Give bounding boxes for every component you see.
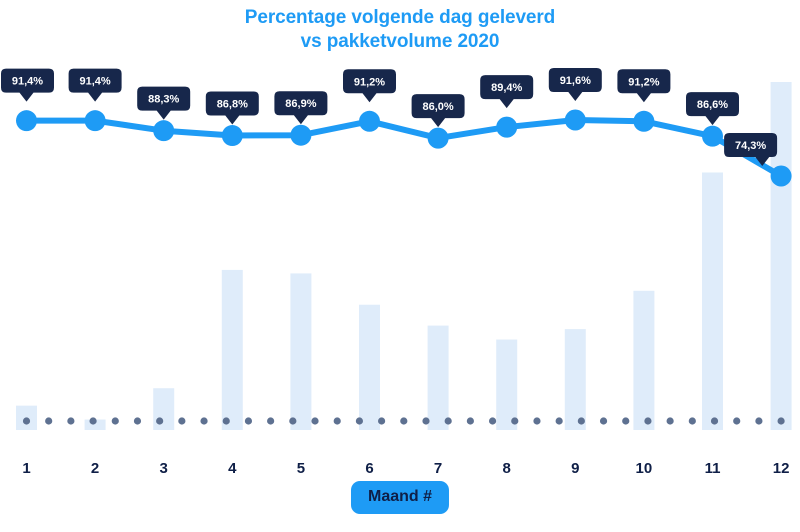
data-point-month-1[interactable] bbox=[16, 110, 37, 131]
bar-month-11 bbox=[702, 172, 723, 430]
data-label-callouts-layer: 91,4%91,4%88,3%86,8%86,9%91,2%86,0%89,4%… bbox=[1, 68, 777, 166]
data-point-month-7[interactable] bbox=[428, 128, 449, 149]
axis-dot bbox=[45, 417, 52, 424]
x-tick-label-7: 7 bbox=[434, 460, 442, 477]
callout-value-label: 91,6% bbox=[560, 75, 591, 87]
axis-dot bbox=[156, 417, 163, 424]
axis-dot bbox=[511, 417, 518, 424]
gridline-dot-row bbox=[23, 417, 785, 424]
line-markers-layer bbox=[16, 110, 792, 187]
data-point-month-5[interactable] bbox=[290, 125, 311, 146]
bar-month-4 bbox=[222, 270, 243, 430]
axis-dot bbox=[755, 417, 762, 424]
data-point-month-12[interactable] bbox=[771, 166, 792, 187]
x-tick-label-3: 3 bbox=[160, 460, 168, 477]
data-point-month-10[interactable] bbox=[633, 111, 654, 132]
data-label-callout-month-6: 91,2% bbox=[343, 69, 396, 102]
x-tick-label-8: 8 bbox=[503, 460, 511, 477]
axis-dot bbox=[445, 417, 452, 424]
bar-month-3 bbox=[153, 388, 174, 430]
data-label-callout-month-10: 91,2% bbox=[617, 69, 670, 102]
line-series-layer bbox=[27, 120, 782, 176]
callout-value-label: 74,3% bbox=[735, 140, 766, 152]
axis-dot bbox=[556, 417, 563, 424]
x-axis-tick-labels: 123456789101112 bbox=[22, 460, 789, 477]
axis-dot bbox=[711, 417, 718, 424]
axis-dot bbox=[467, 417, 474, 424]
axis-dot bbox=[289, 417, 296, 424]
data-label-callout-month-4: 86,8% bbox=[206, 92, 259, 125]
bar-month-5 bbox=[290, 273, 311, 430]
axis-dot bbox=[200, 417, 207, 424]
axis-dot bbox=[267, 417, 274, 424]
axis-dot bbox=[89, 417, 96, 424]
data-point-month-6[interactable] bbox=[359, 111, 380, 132]
callout-value-label: 86,6% bbox=[697, 99, 728, 111]
data-point-month-11[interactable] bbox=[702, 126, 723, 147]
axis-dot bbox=[356, 417, 363, 424]
callout-value-label: 91,4% bbox=[79, 76, 110, 88]
axis-dot bbox=[334, 417, 341, 424]
axis-dot bbox=[422, 417, 429, 424]
x-tick-label-6: 6 bbox=[365, 460, 373, 477]
axis-dot bbox=[489, 417, 496, 424]
data-point-month-2[interactable] bbox=[85, 110, 106, 131]
axis-dot bbox=[178, 417, 185, 424]
x-tick-label-1: 1 bbox=[22, 460, 30, 477]
data-point-month-3[interactable] bbox=[153, 120, 174, 141]
callout-value-label: 91,2% bbox=[628, 76, 659, 88]
axis-dot bbox=[689, 417, 696, 424]
data-label-callout-month-5: 86,9% bbox=[274, 91, 327, 124]
data-label-callout-month-11: 86,6% bbox=[686, 92, 739, 125]
x-tick-label-4: 4 bbox=[228, 460, 237, 477]
data-label-callout-month-7: 86,0% bbox=[412, 94, 465, 127]
axis-dot bbox=[533, 417, 540, 424]
axis-dot bbox=[23, 417, 30, 424]
callout-value-label: 91,4% bbox=[12, 76, 43, 88]
axis-dot bbox=[778, 417, 785, 424]
axis-dot bbox=[245, 417, 252, 424]
callout-value-label: 89,4% bbox=[491, 82, 522, 94]
data-label-callout-month-2: 91,4% bbox=[69, 69, 122, 102]
chart-plot-area: 91,4%91,4%88,3%86,8%86,9%91,2%86,0%89,4%… bbox=[0, 0, 800, 500]
axis-dot bbox=[378, 417, 385, 424]
bar-month-10 bbox=[633, 291, 654, 430]
axis-dot bbox=[578, 417, 585, 424]
x-tick-label-11: 11 bbox=[705, 460, 721, 477]
callout-value-label: 91,2% bbox=[354, 76, 385, 88]
axis-dot bbox=[600, 417, 607, 424]
data-point-month-9[interactable] bbox=[565, 110, 586, 131]
bar-month-7 bbox=[428, 326, 449, 430]
data-point-month-8[interactable] bbox=[496, 117, 517, 138]
data-label-callout-month-3: 88,3% bbox=[137, 87, 190, 120]
data-point-month-4[interactable] bbox=[222, 125, 243, 146]
callout-value-label: 88,3% bbox=[148, 94, 179, 106]
chart-container: Percentage volgende dag geleverd vs pakk… bbox=[0, 0, 800, 532]
axis-dot bbox=[644, 417, 651, 424]
x-tick-label-9: 9 bbox=[571, 460, 579, 477]
callout-value-label: 86,9% bbox=[285, 98, 316, 110]
axis-dot bbox=[622, 417, 629, 424]
data-label-callout-month-1: 91,4% bbox=[1, 69, 54, 102]
x-tick-label-12: 12 bbox=[773, 460, 790, 477]
bar-month-8 bbox=[496, 340, 517, 430]
bar-month-9 bbox=[565, 329, 586, 430]
axis-dot bbox=[311, 417, 318, 424]
axis-dot bbox=[667, 417, 674, 424]
axis-dot bbox=[223, 417, 230, 424]
x-tick-label-5: 5 bbox=[297, 460, 305, 477]
data-label-callout-month-9: 91,6% bbox=[549, 68, 602, 101]
axis-dot bbox=[67, 417, 74, 424]
bar-month-6 bbox=[359, 305, 380, 430]
axis-dot bbox=[112, 417, 119, 424]
callout-value-label: 86,8% bbox=[217, 99, 248, 111]
axis-dot bbox=[733, 417, 740, 424]
trend-line bbox=[27, 120, 782, 176]
axis-dot bbox=[400, 417, 407, 424]
callout-value-label: 86,0% bbox=[422, 101, 453, 113]
x-tick-label-2: 2 bbox=[91, 460, 99, 477]
data-label-callout-month-8: 89,4% bbox=[480, 75, 533, 108]
x-axis-title-pill: Maand # bbox=[351, 481, 449, 514]
axis-dot bbox=[134, 417, 141, 424]
x-tick-label-10: 10 bbox=[636, 460, 653, 477]
bar-series-layer bbox=[16, 82, 792, 430]
